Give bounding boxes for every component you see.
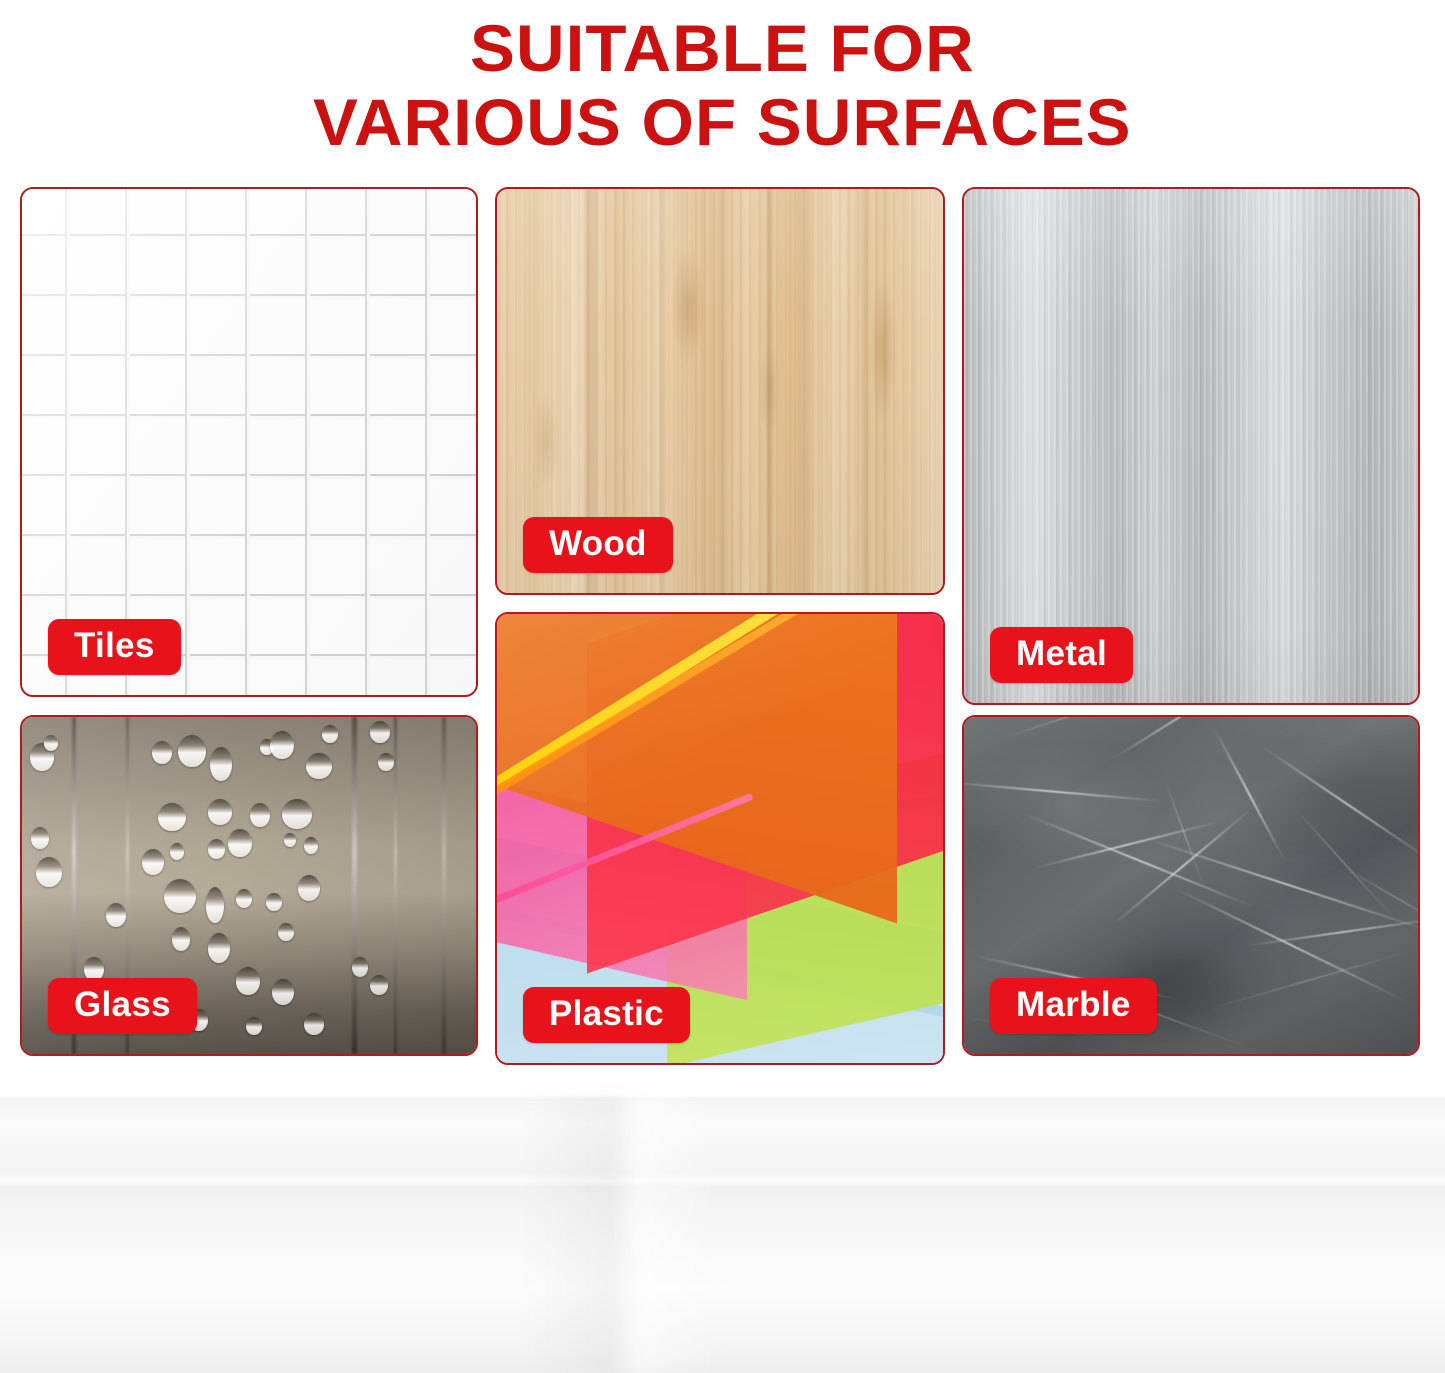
surface-card-wood[interactable]: Wood: [495, 187, 945, 595]
surface-card-tiles[interactable]: Tiles: [20, 187, 478, 697]
surface-label-plastic: Plastic: [523, 987, 690, 1043]
title-line-2: VARIOUS OF SURFACES: [313, 86, 1132, 158]
surface-card-metal[interactable]: Metal: [962, 187, 1420, 705]
surface-card-plastic[interactable]: Plastic: [495, 612, 945, 1065]
surface-label-marble: Marble: [990, 978, 1157, 1034]
surface-label-wood: Wood: [523, 517, 673, 573]
page-title: SUITABLE FOR VARIOUS OF SURFACES: [0, 0, 1445, 170]
surface-label-tiles: Tiles: [48, 619, 181, 675]
product-surface-strip: [0, 1095, 1445, 1373]
title-line-1: SUITABLE FOR: [470, 12, 975, 84]
surface-label-metal: Metal: [990, 627, 1133, 683]
surface-card-marble[interactable]: Marble: [962, 715, 1420, 1056]
surface-label-glass: Glass: [48, 978, 197, 1034]
metal-texture: [964, 189, 1418, 703]
surface-card-glass[interactable]: Glass: [20, 715, 478, 1056]
